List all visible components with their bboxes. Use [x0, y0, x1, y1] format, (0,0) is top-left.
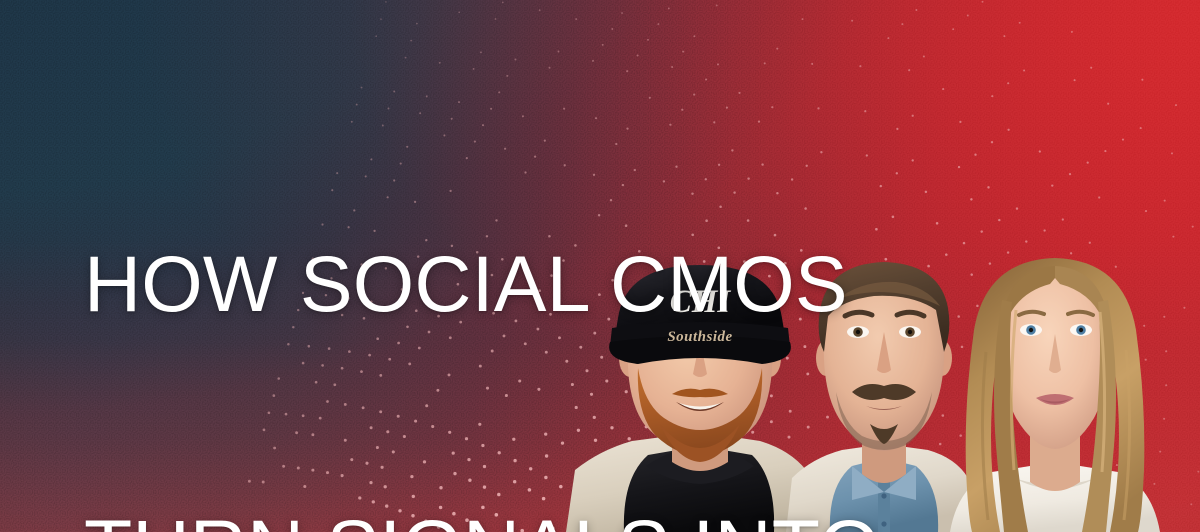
headline-line-1: HOW SOCIAL CMOS — [84, 240, 880, 328]
social-cmos-banner: HOW SOCIAL CMOS TURN SIGNALS INTO STRATE… — [0, 0, 1200, 532]
banner-headline: HOW SOCIAL CMOS TURN SIGNALS INTO STRATE… — [84, 64, 880, 532]
headline-line-2: TURN SIGNALS INTO — [84, 504, 880, 532]
